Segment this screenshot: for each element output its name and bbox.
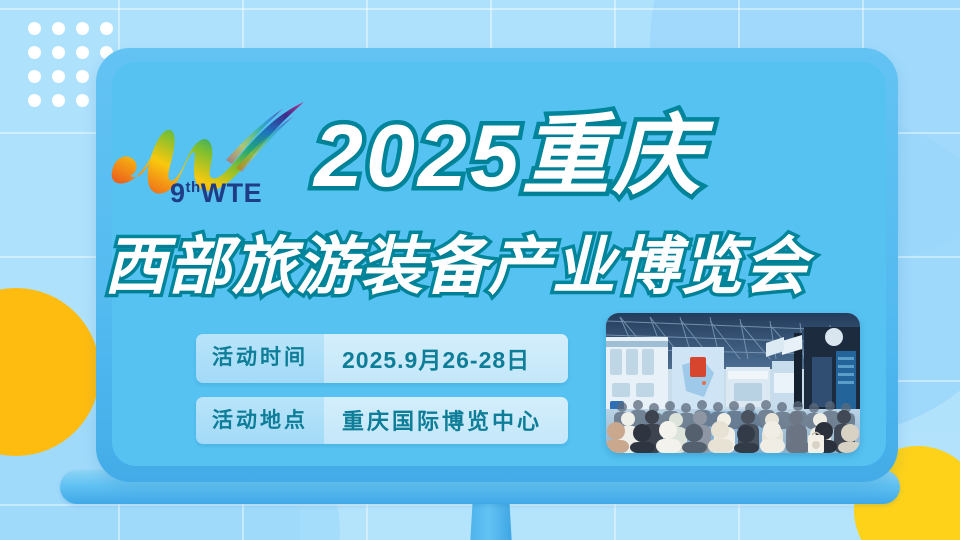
event-info-block: 活动时间 2025.9月26-28日 活动地点 重庆国际博览中心 <box>196 334 568 458</box>
logo-edition-text: 9thWTE <box>170 178 262 209</box>
logo-edition-number: 9 <box>170 178 186 208</box>
exhibition-photo-artwork <box>606 313 860 453</box>
event-logo: 9thWTE <box>108 100 308 218</box>
info-label-venue: 活动地点 <box>196 397 324 444</box>
logo-acronym: WTE <box>201 178 263 208</box>
info-label-date: 活动时间 <box>196 334 324 383</box>
info-value-date: 2025.9月26-28日 <box>324 334 568 383</box>
info-row-date: 活动时间 2025.9月26-28日 <box>196 334 568 383</box>
poster-headline: 2025重庆 <box>314 112 704 200</box>
poster-canvas: 9thWTE 2025重庆 西部旅游装备产业博览会 活动时间 2025.9月26… <box>0 0 960 540</box>
logo-edition-suffix: th <box>186 179 201 196</box>
exhibition-hall-crowd-photo <box>606 313 860 453</box>
info-value-venue: 重庆国际博览中心 <box>324 397 568 444</box>
poster-subheadline: 西部旅游装备产业博览会 <box>104 236 808 299</box>
info-row-venue: 活动地点 重庆国际博览中心 <box>196 397 568 444</box>
